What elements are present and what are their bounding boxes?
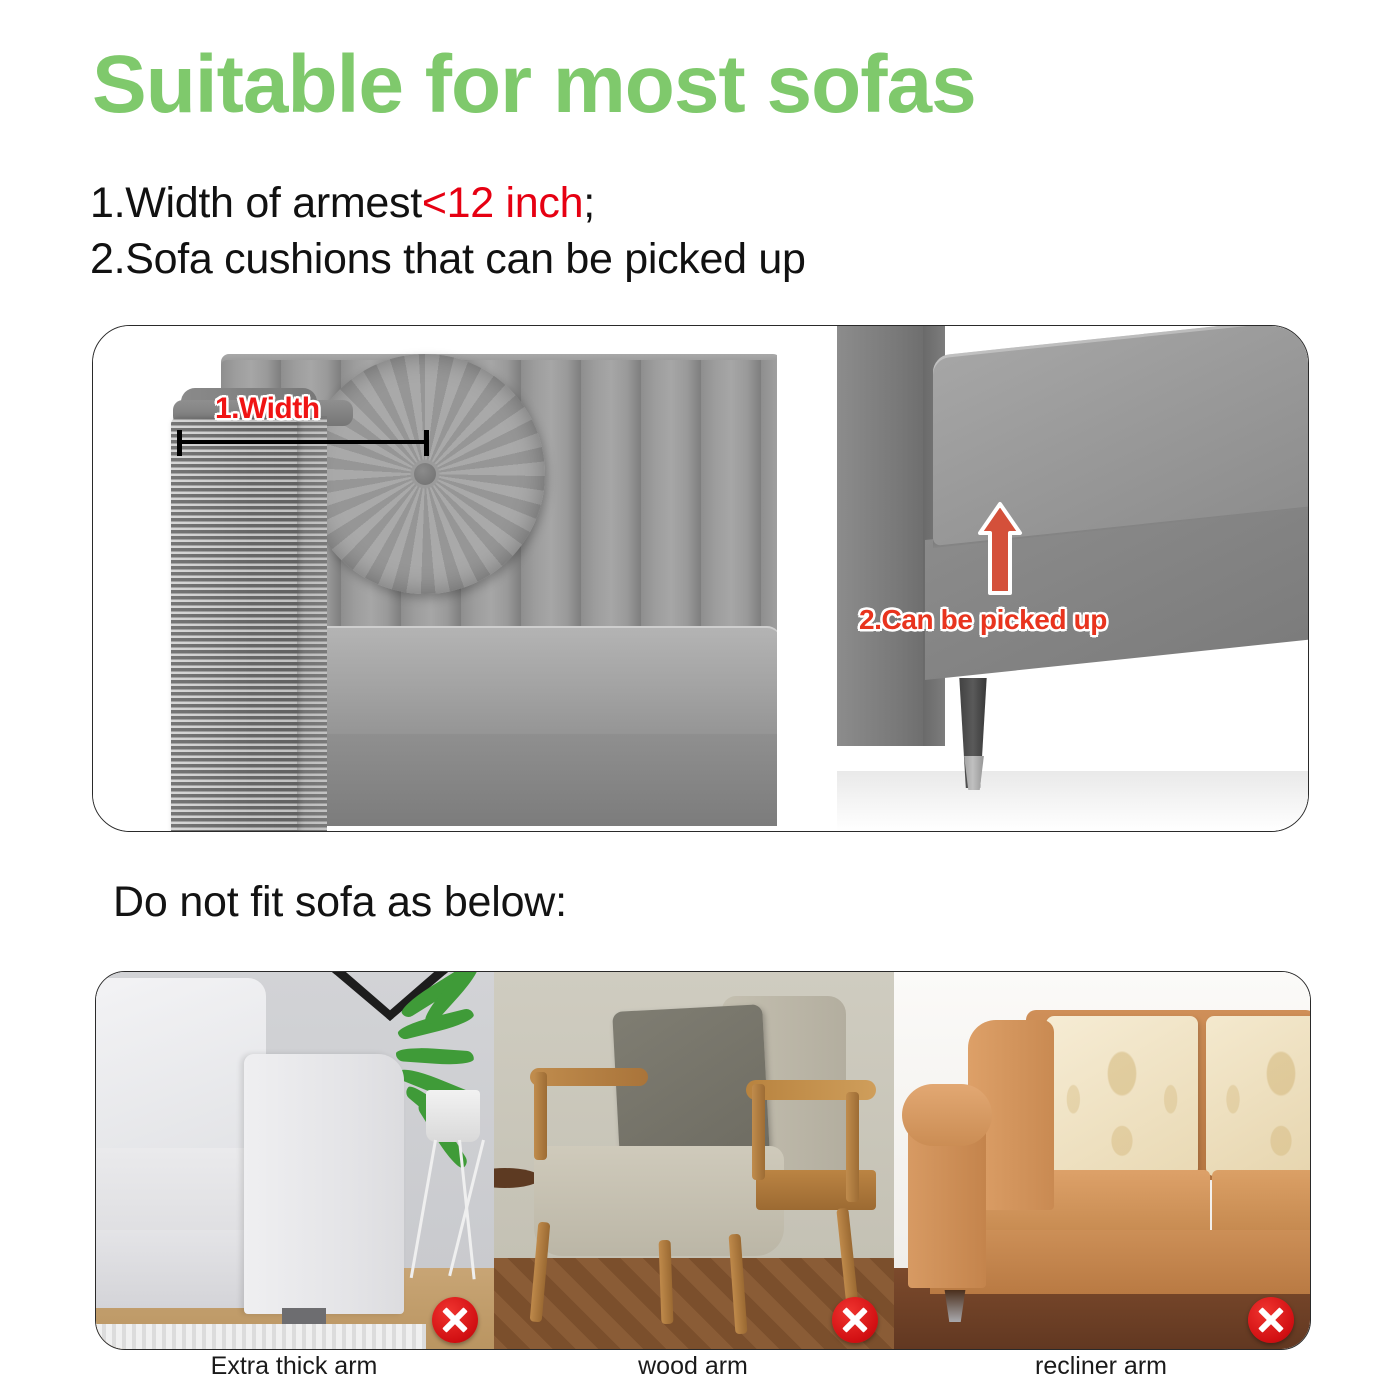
requirement-1-suffix: ;: [583, 179, 595, 227]
sofa-back-panel: [837, 326, 927, 746]
caption-recliner-arm: recliner arm: [893, 1352, 1309, 1381]
wood-arm-chair-photo: [494, 972, 894, 1349]
requirement-1-highlight: <12 inch: [422, 179, 583, 227]
width-annotation-label: 1.Width: [215, 392, 320, 426]
area-rug: [96, 1324, 426, 1349]
x-badge-icon: [432, 1297, 478, 1343]
requirement-line-2: 2.Sofa cushions that can be picked up: [90, 232, 1290, 288]
caption-wood-arm: wood arm: [493, 1352, 893, 1381]
requirements-list: 1.Width of armest<12 inch; 2.Sofa cushio…: [90, 176, 1290, 288]
x-badge-icon: [1248, 1297, 1294, 1343]
extra-thick-armrest: [244, 1054, 404, 1314]
wood-arm-post-right: [752, 1084, 765, 1180]
sofa-cushion-lift-photo: 2.Can be picked up: [837, 326, 1308, 831]
arm-roll-top: [902, 1084, 992, 1146]
requirement-1-prefix: 1.Width of armest: [90, 179, 422, 227]
suitable-sofas-photo-panel: 1.Width 2.Can be picked up: [92, 325, 1309, 832]
recliner-arm-sofa-photo: [894, 972, 1310, 1349]
side-table-legs: [428, 1140, 494, 1280]
wood-arm-post-left: [534, 1072, 547, 1160]
requirement-line-1: 1.Width of armest<12 inch;: [90, 176, 1290, 232]
sofa-armrest-width-photo: 1.Width: [93, 326, 777, 831]
incompatible-sofas-photo-panel: [95, 971, 1311, 1350]
sofa-arm-scene: 1.Width: [93, 326, 777, 831]
measure-cap-right: [424, 430, 429, 456]
measure-line: [177, 440, 429, 444]
pick-up-annotation-label: 2.Can be picked up: [859, 604, 1107, 636]
knitted-armrest-cover: [171, 418, 297, 831]
incompatible-captions-row: Extra thick arm wood arm recliner arm: [95, 1352, 1309, 1396]
floor-backdrop: [837, 771, 1308, 831]
herringbone-floor: [494, 1258, 894, 1349]
sofa-base: [96, 1230, 262, 1308]
x-badge-icon: [832, 1297, 878, 1343]
sofa-seat-cushion-right: [1212, 1170, 1310, 1236]
sofa-base: [930, 1230, 1310, 1294]
sofa-seat: [96, 1148, 262, 1234]
sofa-back-cushion: [96, 978, 266, 1158]
sofa-foot: [282, 1308, 326, 1324]
damask-pillow-right: [1206, 1016, 1310, 1176]
round-tufted-pillow: [305, 354, 545, 594]
page-title: Suitable for most sofas: [92, 44, 1292, 126]
plant-pot: [426, 1090, 480, 1142]
wood-arm-post-right-rear: [846, 1092, 859, 1202]
arrow-up-icon: [977, 501, 1023, 597]
width-measurement-bar: [177, 430, 429, 454]
damask-pillow-left: [1046, 1016, 1198, 1176]
thick-arm-sofa-photo: [96, 972, 494, 1349]
wood-armrest-left: [530, 1068, 648, 1086]
chair-seat-cushion: [534, 1146, 784, 1256]
do-not-fit-subheading: Do not fit sofa as below:: [113, 878, 567, 927]
caption-extra-thick-arm: Extra thick arm: [95, 1352, 493, 1381]
